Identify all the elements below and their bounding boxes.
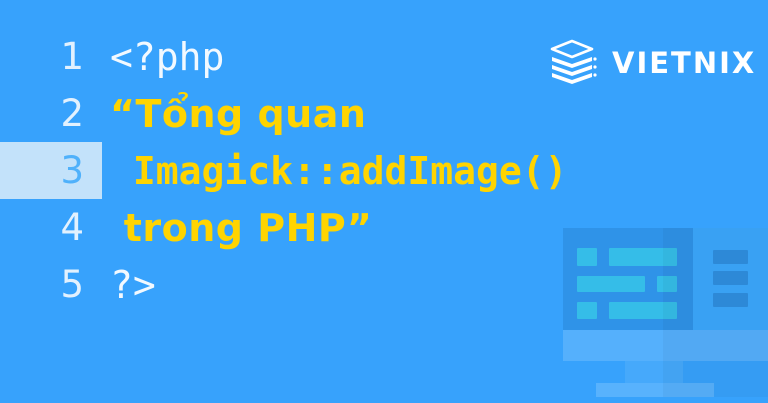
line-number-3: 3 xyxy=(0,142,102,199)
monitor-bezel xyxy=(563,330,768,361)
code-line-2: 2 “Tổng quan xyxy=(0,85,768,142)
code-line-text-3: Imagick::addImage() xyxy=(102,152,568,190)
line-number-4: 4 xyxy=(0,209,102,246)
line-number-2: 2 xyxy=(0,95,102,132)
code-block: 1 <?php 2 “Tổng quan 3 Imagick::addImage… xyxy=(0,28,768,313)
code-line-text-1: <?php xyxy=(102,38,224,76)
code-line-text-2: “Tổng quan xyxy=(102,95,366,133)
code-line-3: 3 Imagick::addImage() xyxy=(0,142,768,199)
code-line-1: 1 <?php xyxy=(0,28,768,85)
code-line-text-5: ?> xyxy=(102,266,156,304)
line-number-1: 1 xyxy=(0,38,102,75)
monitor-base xyxy=(596,383,714,397)
line-number-5: 5 xyxy=(0,266,102,303)
code-line-4: 4 trong PHP” xyxy=(0,199,768,256)
code-line-text-4: trong PHP” xyxy=(102,209,372,247)
monitor-neck xyxy=(625,361,683,383)
banner-canvas: VIETNIX 1 <?php 2 “Tổng quan 3 Imagick::… xyxy=(0,0,768,403)
code-line-5: 5 ?> xyxy=(0,256,768,313)
